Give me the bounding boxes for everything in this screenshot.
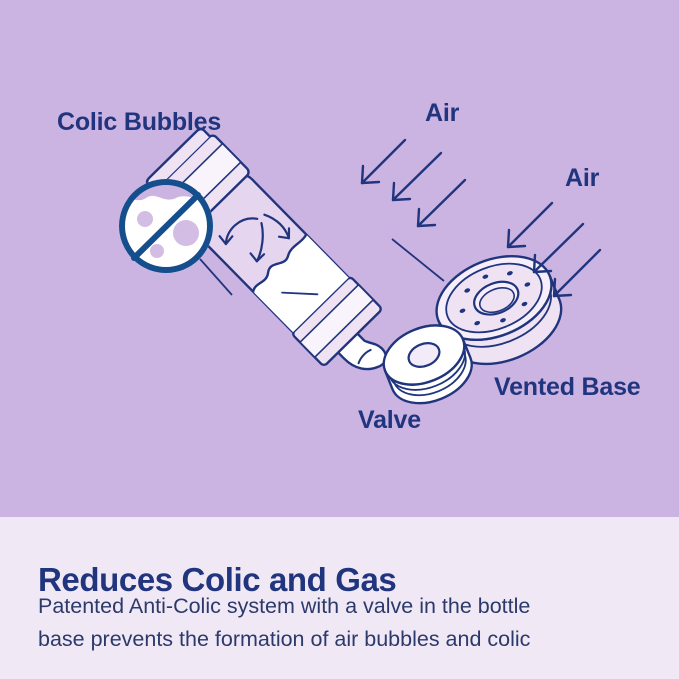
label-valve: Valve	[358, 406, 421, 435]
air-inflow-arrow-icon	[393, 153, 441, 200]
anti-colic-diagram	[0, 0, 679, 517]
label-colic-bubbles: Colic Bubbles	[57, 108, 221, 137]
caption-body-line-1: Patented Anti-Colic system with a valve …	[38, 590, 658, 623]
air-inflow-arrow-icon	[362, 140, 405, 183]
product-feature-infographic: Colic Bubbles Air Air Vented Base Valve …	[0, 0, 679, 679]
no-bubbles-liquid-surface	[118, 196, 216, 276]
bubble-3	[150, 244, 164, 258]
bubble-1	[137, 211, 153, 227]
caption-body: Patented Anti-Colic system with a valve …	[38, 590, 658, 656]
air-inflow-arrow-icon	[554, 250, 600, 296]
leader-line-base	[392, 239, 444, 281]
air-inflow-arrow-icon	[508, 203, 552, 247]
label-vented-base: Vented Base	[494, 373, 640, 402]
air-inflow-arrow-icon	[534, 224, 583, 272]
air-arrows-top	[362, 140, 465, 226]
label-air-top: Air	[425, 99, 459, 128]
bubble-2	[173, 220, 199, 246]
caption-body-line-2: base prevents the formation of air bubbl…	[38, 623, 658, 656]
air-inflow-arrow-icon	[418, 180, 465, 226]
illustration-panel: Colic Bubbles Air Air Vented Base Valve	[0, 0, 679, 517]
label-air-right: Air	[565, 164, 599, 193]
